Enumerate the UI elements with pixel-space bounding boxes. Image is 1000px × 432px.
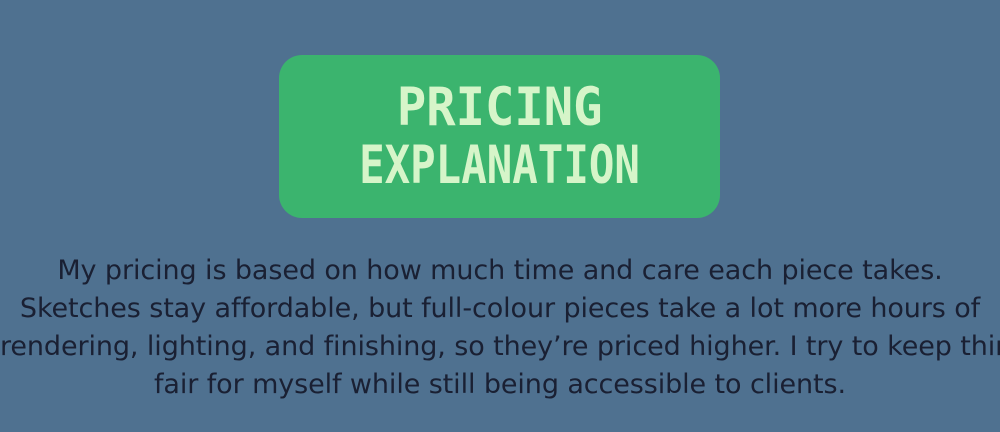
title-line-explanation: EXPLANATION — [359, 137, 640, 195]
body-line-4: fair for myself while still being access… — [0, 366, 1000, 404]
body-line-2: Sketches stay affordable, but full-colou… — [0, 290, 1000, 328]
body-line-1: My pricing is based on how much time and… — [0, 252, 1000, 290]
body-paragraph: My pricing is based on how much time and… — [0, 252, 1000, 404]
title-badge: PRICING EXPLANATION — [279, 55, 720, 218]
title-line-pricing: PRICING — [397, 79, 603, 137]
pricing-explanation-slide: PRICING EXPLANATION My pricing is based … — [0, 0, 1000, 432]
body-line-3: rendering, lighting, and finishing, so t… — [0, 328, 1000, 366]
